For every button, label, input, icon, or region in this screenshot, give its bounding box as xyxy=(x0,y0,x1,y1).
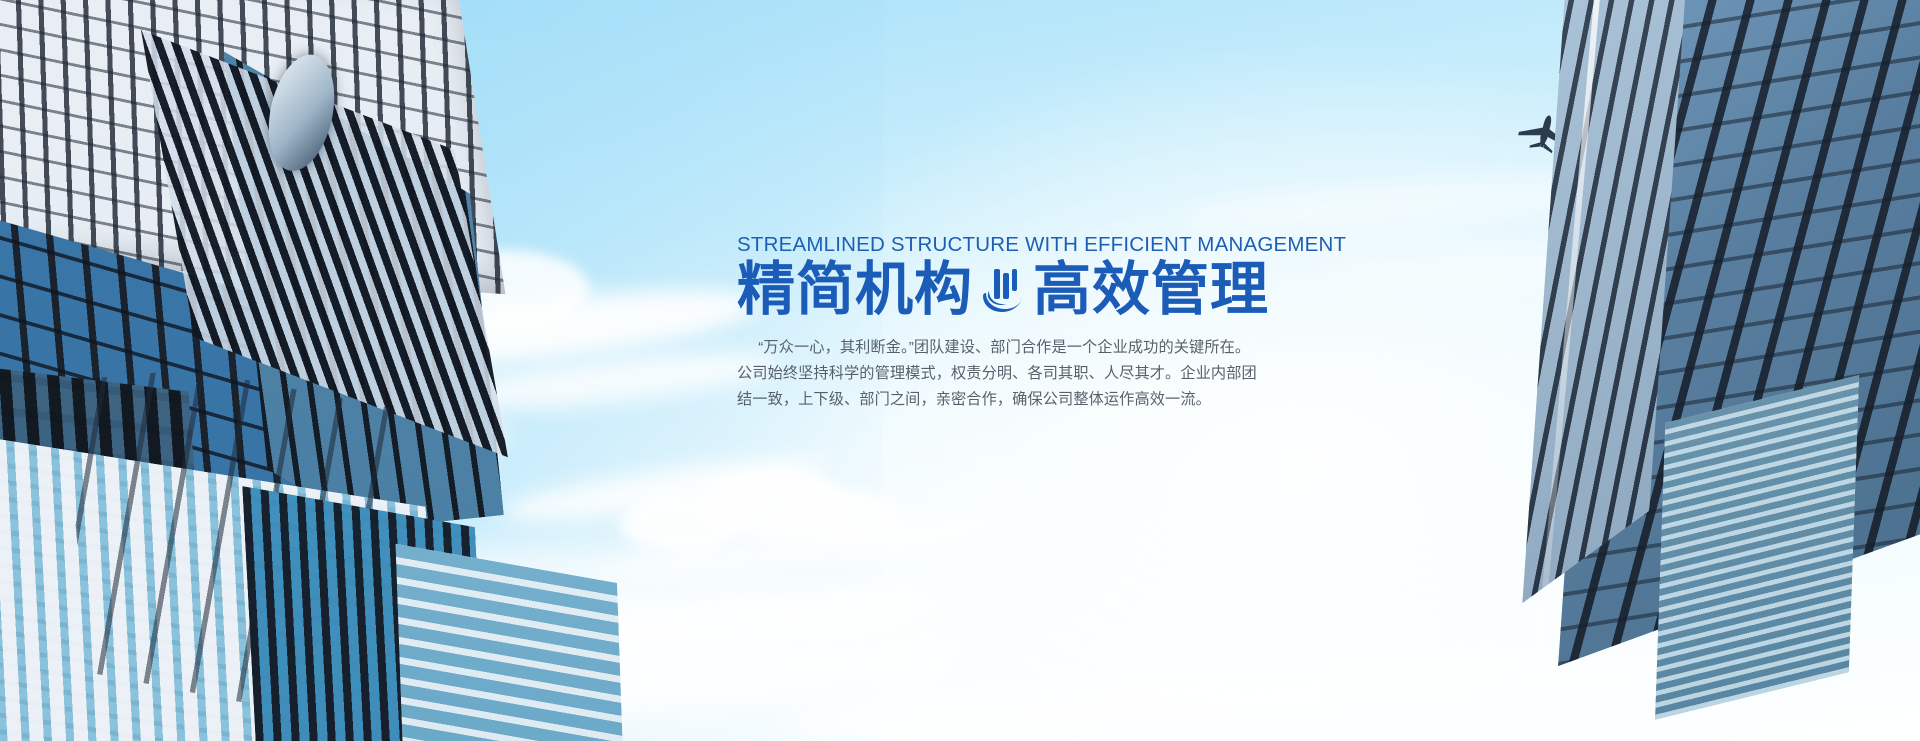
description-line: 结一致，上下级、部门之间，亲密合作，确保公司整体运作高效一流。 xyxy=(737,387,1277,413)
banner-headline: 精简机构 高效管理 xyxy=(737,260,1282,321)
description-line: “万众一心，其利断金。”团队建设、部门合作是一个企业成功的关键所在。 xyxy=(737,335,1277,361)
company-logo-mark-icon xyxy=(981,267,1025,317)
banner-eyebrow: STREAMLINED STRUCTURE WITH EFFICIENT MAN… xyxy=(737,232,1282,258)
headline-right-text: 高效管理 xyxy=(1033,260,1269,321)
cloud-puff xyxy=(790,490,900,542)
description-line: 公司始终坚持科学的管理模式，权责分明、各司其职、人尽其才。企业内部团 xyxy=(737,361,1277,387)
glass-tower-right xyxy=(1513,0,1920,741)
tower-lower-block xyxy=(1655,375,1859,720)
banner-description: “万众一心，其利断金。”团队建设、部门合作是一个企业成功的关键所在。 公司始终坚… xyxy=(737,335,1277,413)
headline-left-text: 精简机构 xyxy=(737,260,973,321)
banner-content: STREAMLINED STRUCTURE WITH EFFICIENT MAN… xyxy=(737,232,1282,413)
highrise-facade xyxy=(396,544,625,741)
highrise-teal-right xyxy=(396,536,625,741)
cloud-puff xyxy=(620,495,740,553)
hero-banner: STREAMLINED STRUCTURE WITH EFFICIENT MAN… xyxy=(0,0,1920,741)
